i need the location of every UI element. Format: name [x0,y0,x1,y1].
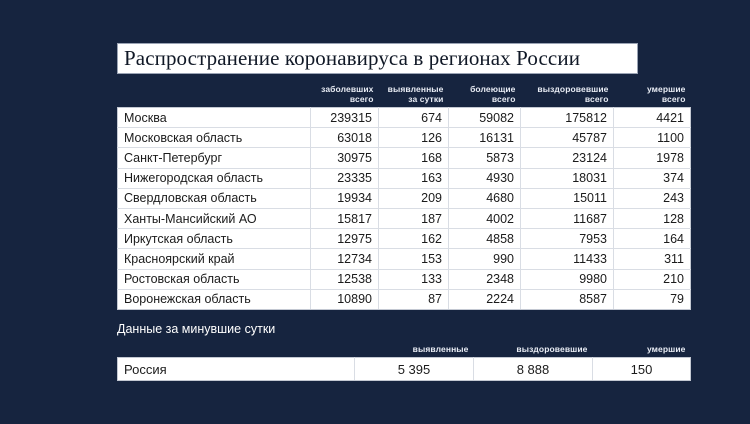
table-row: Ханты-Мансийский АО15817187400211687128 [118,208,691,228]
active-cases-cell: 59082 [449,108,521,128]
table-row: Москва239315674590821758124421 [118,108,691,128]
cases-total-cell: 15817 [311,208,379,228]
regions-table-body: Москва239315674590821758124421Московская… [118,108,691,310]
cases-total-cell: 10890 [311,289,379,309]
summary-row: Россия5 3958 888150 [118,358,691,381]
header-recovered-line1: выздоровевшие [537,84,608,94]
table-row: Воронежская область10890872224858779 [118,289,691,309]
cases-total-cell: 23335 [311,168,379,188]
recovered-cell: 175812 [521,108,614,128]
header-new-cases-line2: за сутки [408,94,443,104]
summary-recovered-cell: 8 888 [474,358,593,381]
new-cases-cell: 168 [379,148,449,168]
cases-total-cell: 12538 [311,269,379,289]
header-recovered: выздоровевшие всего [521,84,614,108]
active-cases-cell: 4002 [449,208,521,228]
new-cases-cell: 153 [379,249,449,269]
deaths-cell: 4421 [614,108,691,128]
summary-table-body: Россия5 3958 888150 [118,358,691,381]
header-recovered-line2: всего [585,94,609,104]
active-cases-cell: 5873 [449,148,521,168]
new-cases-cell: 126 [379,128,449,148]
region-name-cell: Воронежская область [118,289,311,309]
new-cases-cell: 87 [379,289,449,309]
region-name-cell: Нижегородская область [118,168,311,188]
table-row: Ростовская область1253813323489980210 [118,269,691,289]
active-cases-cell: 2348 [449,269,521,289]
summary-new-cell: 5 395 [355,358,474,381]
header-active: болеющие всего [449,84,521,108]
deaths-cell: 1978 [614,148,691,168]
recovered-cell: 11687 [521,208,614,228]
header-deaths-line2: всего [662,94,686,104]
summary-header-new: выявленные [355,344,474,358]
slide-canvas: Распространение коронавируса в регионах … [0,0,750,424]
region-name-cell: Москва [118,108,311,128]
cases-total-cell: 19934 [311,188,379,208]
deaths-cell: 374 [614,168,691,188]
cases-total-cell: 12975 [311,229,379,249]
deaths-cell: 128 [614,208,691,228]
deaths-cell: 243 [614,188,691,208]
active-cases-cell: 4930 [449,168,521,188]
regions-table: заболевших всего выявленные за сутки бол… [117,84,690,310]
deaths-cell: 311 [614,249,691,269]
header-deaths-line1: умершие [647,84,686,94]
header-new-cases: выявленные за сутки [379,84,449,108]
summary-table-header: выявленные выздоровевшие умершие [118,344,691,358]
new-cases-cell: 162 [379,229,449,249]
cases-total-cell: 30975 [311,148,379,168]
regions-table-grid: заболевших всего выявленные за сутки бол… [117,84,691,310]
header-deaths: умершие всего [614,84,691,108]
header-new-cases-line1: выявленные [388,84,444,94]
region-name-cell: Санкт-Петербург [118,148,311,168]
cases-total-cell: 239315 [311,108,379,128]
table-row: Красноярский край1273415399011433311 [118,249,691,269]
active-cases-cell: 16131 [449,128,521,148]
new-cases-cell: 187 [379,208,449,228]
recovered-cell: 8587 [521,289,614,309]
active-cases-cell: 4858 [449,229,521,249]
page-title-text: Распространение коронавируса в регионах … [124,46,580,71]
summary-header-row: выявленные выздоровевшие умершие [118,344,691,358]
header-cases-total-line2: всего [350,94,374,104]
new-cases-cell: 674 [379,108,449,128]
new-cases-cell: 163 [379,168,449,188]
header-row: заболевших всего выявленные за сутки бол… [118,84,691,108]
active-cases-cell: 4680 [449,188,521,208]
recovered-cell: 11433 [521,249,614,269]
header-active-line2: всего [492,94,516,104]
summary-table: выявленные выздоровевшие умершие Россия5… [117,344,690,381]
recovered-cell: 18031 [521,168,614,188]
region-name-cell: Московская область [118,128,311,148]
region-name-cell: Ханты-Мансийский АО [118,208,311,228]
table-row: Нижегородская область2333516349301803137… [118,168,691,188]
region-name-cell: Иркутская область [118,229,311,249]
region-name-cell: Свердловская область [118,188,311,208]
table-row: Свердловская область19934209468015011243 [118,188,691,208]
summary-header-region [118,344,355,358]
cases-total-cell: 12734 [311,249,379,269]
new-cases-cell: 133 [379,269,449,289]
deaths-cell: 164 [614,229,691,249]
active-cases-cell: 990 [449,249,521,269]
recovered-cell: 45787 [521,128,614,148]
region-name-cell: Ростовская область [118,269,311,289]
active-cases-cell: 2224 [449,289,521,309]
cases-total-cell: 63018 [311,128,379,148]
deaths-cell: 79 [614,289,691,309]
summary-header-deaths: умершие [593,344,691,358]
country-name-cell: Россия [118,358,355,381]
header-region [118,84,311,108]
section-subtitle: Данные за минувшие сутки [117,322,275,336]
header-active-line1: болеющие [470,84,515,94]
recovered-cell: 7953 [521,229,614,249]
summary-deaths-cell: 150 [593,358,691,381]
regions-table-header: заболевших всего выявленные за сутки бол… [118,84,691,108]
summary-table-grid: выявленные выздоровевшие умершие Россия5… [117,344,691,381]
recovered-cell: 23124 [521,148,614,168]
summary-header-recovered: выздоровевшие [474,344,593,358]
header-cases-total-line1: заболевших [321,84,373,94]
page-title: Распространение коронавируса в регионах … [117,43,638,74]
recovered-cell: 15011 [521,188,614,208]
header-cases-total: заболевших всего [311,84,379,108]
deaths-cell: 210 [614,269,691,289]
table-row: Московская область6301812616131457871100 [118,128,691,148]
new-cases-cell: 209 [379,188,449,208]
region-name-cell: Красноярский край [118,249,311,269]
deaths-cell: 1100 [614,128,691,148]
table-row: Иркутская область1297516248587953164 [118,229,691,249]
table-row: Санкт-Петербург309751685873231241978 [118,148,691,168]
recovered-cell: 9980 [521,269,614,289]
